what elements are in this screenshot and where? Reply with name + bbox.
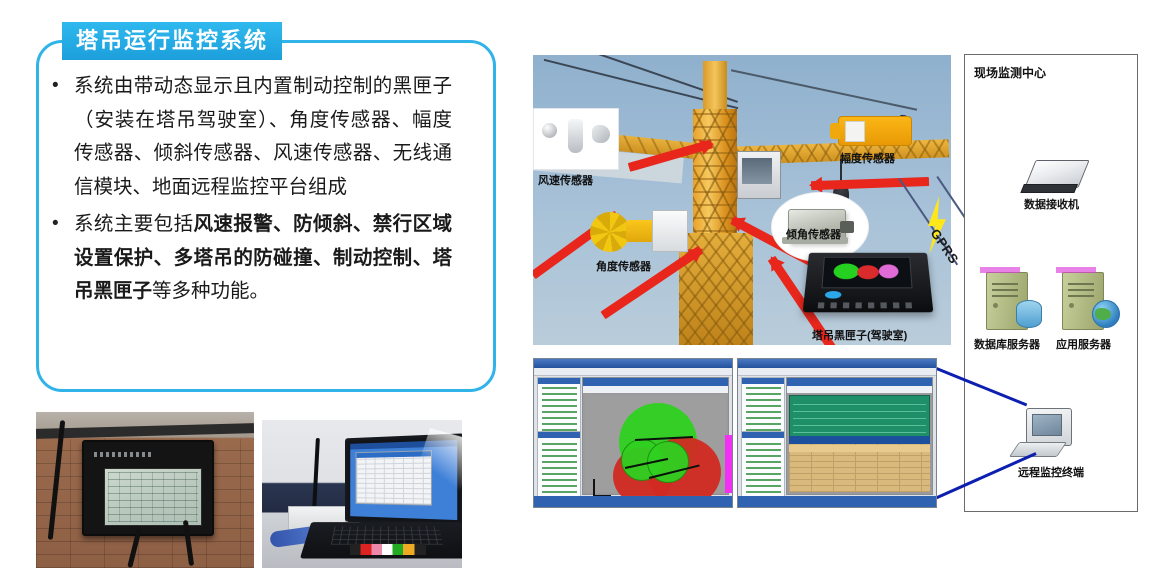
anemometer-body [568, 119, 583, 153]
status-bar [534, 496, 732, 507]
realtime-data-table-view [737, 358, 937, 508]
amplitude-sensor-device [838, 116, 912, 146]
application-server-label: 应用服务器 [1056, 336, 1111, 352]
status-led [825, 291, 842, 299]
panel-header [538, 378, 580, 384]
bullet-segment: 等多种功能。 [152, 280, 269, 302]
bullet-marker: • [52, 70, 74, 204]
amplitude-sensor-label: 幅度传感器 [840, 150, 895, 166]
menu-bar [534, 368, 732, 376]
bullet-text: 系统由带动态显示且内置制动控制的黑匣子（安装在塔吊驾驶室）、角度传感器、幅度传感… [74, 70, 452, 204]
server-led [1069, 303, 1074, 308]
list-item: • 系统主要包括风速报警、防倾斜、禁行区域设置保护、多塔吊的防碰撞、制动控制、塔… [52, 208, 452, 309]
forbidden-zone-marker [725, 435, 733, 493]
remote-terminal-icon [1022, 408, 1080, 460]
angle-sensor-body [652, 210, 688, 252]
guy-cable [731, 69, 917, 110]
angle-sensor-gear-icon [590, 212, 630, 252]
bullet-text: 系统主要包括风速报警、防倾斜、禁行区域设置保护、多塔吊的防碰撞、制动控制、塔吊黑… [74, 208, 452, 309]
laptop-screen [345, 433, 462, 526]
keyboard-icon [1009, 442, 1067, 457]
red-zone-indicator [857, 265, 879, 279]
tilt-sensor-label: 倾角传感器 [786, 226, 841, 242]
amplitude-sensor-connector [830, 123, 840, 139]
anti-collision-zone-view [533, 358, 733, 508]
list-item: • 系统由带动态显示且内置制动控制的黑匣子（安装在塔吊驾驶室）、角度传感器、幅度… [52, 70, 452, 204]
window-titlebar [534, 359, 732, 368]
table-toolbar [787, 386, 932, 393]
tilt-sensor-connector [840, 221, 854, 233]
bullet-list: • 系统由带动态显示且内置制动控制的黑匣子（安装在塔吊驾驶室）、角度传感器、幅度… [52, 70, 452, 313]
keyboard [331, 526, 443, 544]
angle-sensor-coupling [626, 220, 654, 242]
table-title [787, 378, 932, 386]
remote-terminal-label: 远程监控终端 [1018, 464, 1084, 480]
device-nameplate [94, 452, 154, 457]
bullet-segment: 系统由带动态显示且内置制动控制的黑匣子（安装在塔吊驾驶室）、角度传感器、幅度传感… [74, 75, 452, 198]
table-row [789, 445, 930, 452]
panel-header [742, 378, 784, 384]
table-header [789, 436, 930, 444]
tree-items [746, 441, 781, 493]
bullet-segment: 系统主要包括 [74, 213, 194, 235]
wind-sensor-label: 风速传感器 [538, 172, 593, 188]
anemometer-cup-icon [542, 123, 557, 138]
database-cylinder-icon [1016, 300, 1042, 328]
crane-black-box-device [803, 253, 934, 312]
black-box-device [82, 440, 214, 536]
angle-sensor-label: 角度传感器 [596, 258, 651, 274]
window-titlebar [738, 359, 936, 368]
wind-sensor-callout [533, 108, 619, 170]
tree-panel-secondary [537, 431, 581, 497]
pointer-arrow [811, 177, 929, 190]
panel-header [742, 432, 784, 438]
panel-header [538, 432, 580, 438]
wind-vane-icon [592, 125, 610, 143]
monitor-icon [1026, 408, 1072, 446]
tree-items [542, 441, 577, 493]
axis-marker [593, 479, 611, 497]
green-zone-indicator [833, 264, 859, 280]
summary-panel [789, 395, 930, 437]
operator-cab [737, 151, 781, 199]
device-screen [104, 468, 202, 526]
magenta-zone-indicator [879, 264, 899, 278]
data-receiver-icon [1024, 160, 1089, 188]
zone-canvas-window [582, 377, 729, 495]
menu-bar [738, 368, 936, 376]
globe-icon [1092, 300, 1120, 328]
canvas-title [583, 378, 728, 386]
zone-canvas [585, 395, 726, 492]
laptop-monitoring-photo [262, 420, 462, 568]
data-table-window [786, 377, 933, 495]
port-row [818, 302, 914, 308]
server-vent [992, 283, 1018, 297]
data-receiver-label: 数据接收机 [1024, 196, 1079, 212]
tree-panel-secondary [741, 431, 785, 497]
slide-canvas: 塔吊运行监控系统 • 系统由带动态显示且内置制动控制的黑匣子（安装在塔吊驾驶室）… [0, 0, 1172, 572]
page-title: 塔吊运行监控系统 [62, 22, 282, 60]
database-server-label: 数据库服务器 [974, 336, 1040, 352]
color-strip [350, 544, 426, 555]
server-vent [1068, 283, 1094, 297]
server-led [993, 303, 998, 308]
hmi-display-photo [36, 412, 254, 568]
canvas-toolbar [583, 386, 728, 393]
black-box-label: 塔吊黑匣子(驾驶室) [812, 327, 907, 343]
status-bar [738, 496, 936, 507]
bullet-marker: • [52, 208, 74, 309]
black-box-screen [821, 257, 912, 288]
monitoring-center-title: 现场监测中心 [974, 64, 1046, 81]
